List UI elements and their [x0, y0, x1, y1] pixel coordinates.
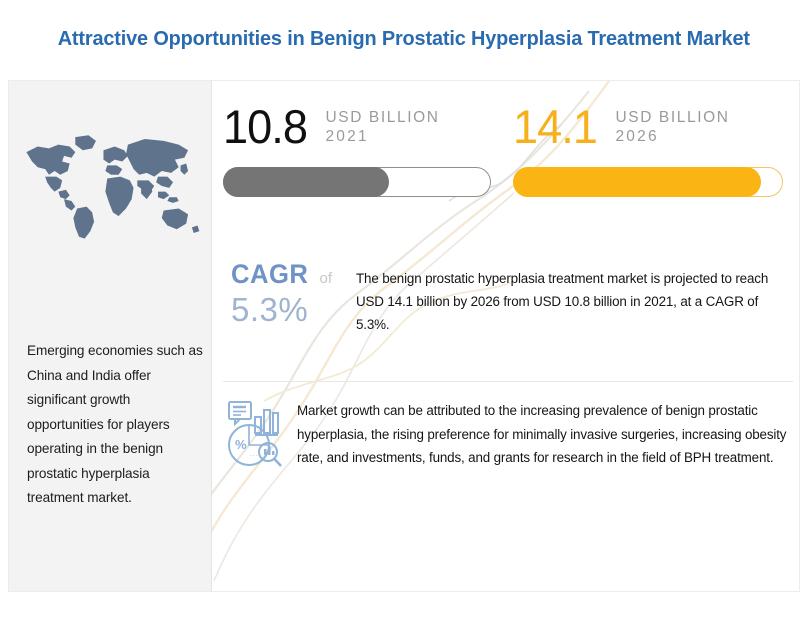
stat-unit-2021: USD BILLION 2021	[325, 108, 439, 146]
stat-block-2026: 14.1 USD BILLION 2026	[513, 99, 793, 161]
stat-block-2021: 10.8 USD BILLION 2021	[223, 99, 501, 161]
infographic-card: Emerging economies such as China and Ind…	[8, 80, 800, 592]
progress-bar-fill-2026	[513, 167, 761, 197]
stat-year-2021: 2021	[325, 127, 439, 146]
content-area: 10.8 USD BILLION 2021 14.1 USD BILLION 2…	[213, 81, 800, 592]
svg-text:%: %	[235, 437, 247, 452]
stat-year-2026: 2026	[615, 127, 729, 146]
section-divider	[223, 381, 793, 382]
stat-unit-label-2021: USD BILLION	[325, 109, 439, 126]
left-panel-caption: Emerging economies such as China and Ind…	[27, 339, 207, 511]
stat-head-2021: 10.8 USD BILLION 2021	[223, 99, 501, 161]
cagr-label-row: CAGR of	[231, 259, 356, 290]
world-map-icon	[17, 111, 205, 261]
cagr-label: CAGR	[231, 259, 308, 290]
stat-unit-label-2026: USD BILLION	[615, 109, 729, 126]
progress-bar-fill-2021	[223, 167, 389, 197]
svg-text:...: ...	[250, 451, 259, 458]
stat-head-2026: 14.1 USD BILLION 2026	[513, 99, 793, 161]
left-panel: Emerging economies such as China and Ind…	[9, 81, 212, 592]
cagr-of-label: of	[320, 270, 333, 287]
page-title: Attractive Opportunities in Benign Prost…	[58, 27, 750, 51]
cagr-block: CAGR of 5.3%	[231, 259, 356, 329]
progress-bar-2021	[223, 167, 491, 197]
cagr-value: 5.3%	[231, 291, 356, 329]
stat-value-2026: 14.1	[513, 99, 597, 155]
market-analytics-icon: % ...	[225, 399, 287, 469]
stat-unit-2026: USD BILLION 2026	[615, 108, 729, 146]
title-bar: Attractive Opportunities in Benign Prost…	[0, 0, 808, 78]
growth-paragraph: Market growth can be attributed to the i…	[297, 399, 793, 470]
stat-value-2021: 10.8	[223, 99, 307, 155]
progress-bar-2026	[513, 167, 783, 197]
projection-paragraph: The benign prostatic hyperplasia treatme…	[356, 267, 793, 336]
